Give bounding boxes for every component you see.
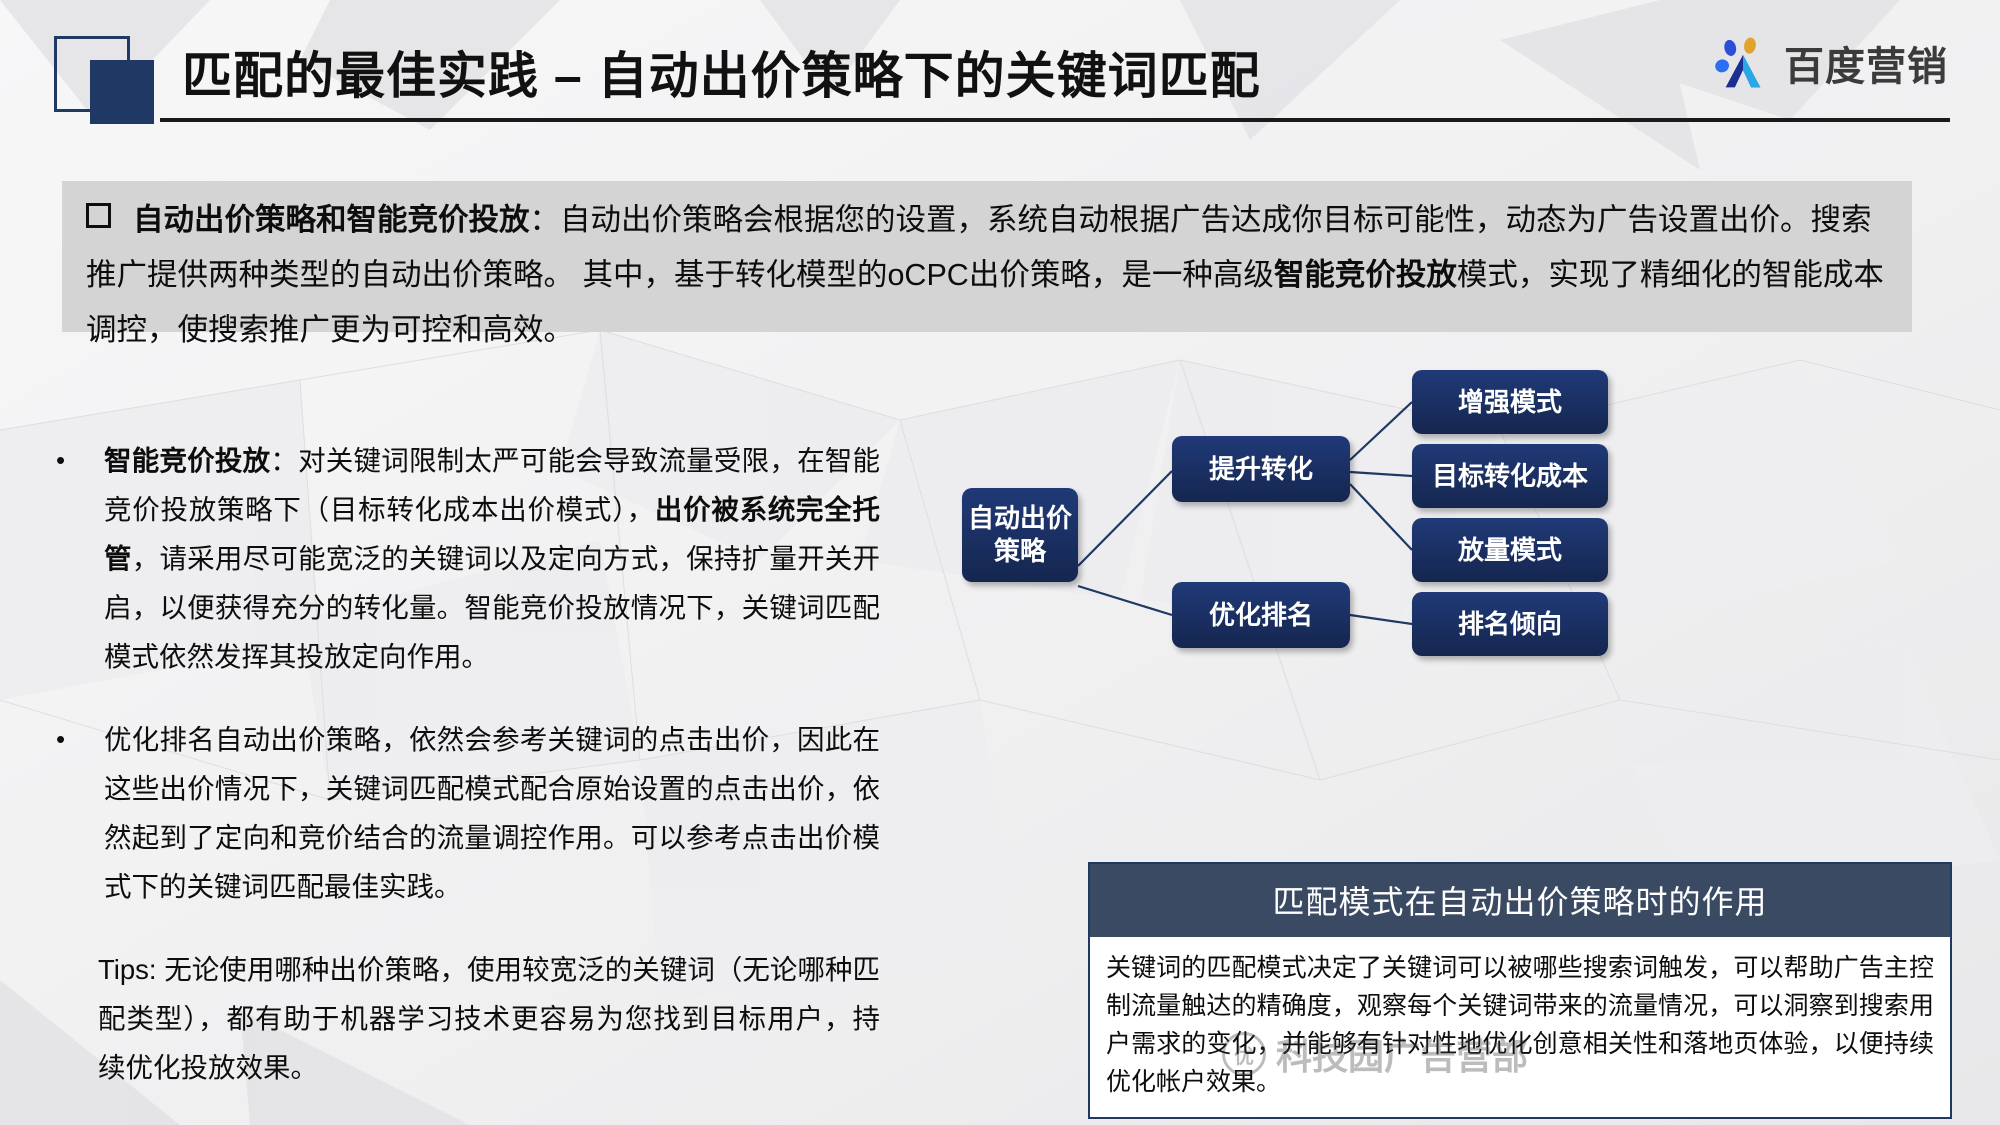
bullet-marker: • — [50, 436, 104, 485]
strategy-diagram: 自动出价 策略 提升转化 优化排名 增强模式 目标转化成本 放量模式 排名倾向 — [940, 440, 1960, 690]
baidu-marketing-logo: 百度营销 — [1714, 34, 1948, 92]
diagram-leaf-rank-preference: 排名倾向 — [1412, 592, 1608, 656]
title-underline — [160, 118, 1950, 122]
panel-body-text: 关键词的匹配模式决定了关键词可以被哪些搜索词触发，可以帮助广告主控制流量触达的精… — [1090, 937, 1950, 1117]
body-left-column: • 智能竞价投放：对关键词限制太严可能会导致流量受限，在智能竞价投放策略下（目标… — [50, 436, 880, 1092]
diagram-leaf-target-cpa: 目标转化成本 — [1412, 444, 1608, 508]
diagram-node-root-label: 自动出价 策略 — [968, 502, 1072, 568]
bullet-item-1: • 智能竞价投放：对关键词限制太严可能会导致流量受限，在智能竞价投放策略下（目标… — [50, 436, 880, 681]
panel-heading: 匹配模式在自动出价策略时的作用 — [1090, 864, 1950, 937]
diagram-node-root: 自动出价 策略 — [962, 488, 1078, 582]
diagram-node-optimize-rank: 优化排名 — [1172, 582, 1350, 648]
diagram-node-boost-conversion: 提升转化 — [1172, 436, 1350, 502]
bullet-1-bold-1: 智能竞价投放 — [104, 445, 270, 476]
slide-root: 匹配的最佳实践 – 自动出价策略下的关键词匹配 百度营销 自动出价策略和智能竞价… — [0, 0, 2000, 1125]
baidu-brand-label: 百度营销 — [1784, 34, 1948, 92]
logo-square-outline-icon — [54, 36, 130, 112]
square-bullet-icon — [86, 203, 111, 228]
callout-lead-bold: 自动出价策略和智能竞价投放 — [133, 203, 530, 237]
tips-label: Tips: — [98, 954, 157, 985]
callout-mid-bold: 智能竞价投放 — [1274, 258, 1457, 292]
bullet-text-1: 智能竞价投放：对关键词限制太严可能会导致流量受限，在智能竞价投放策略下（目标转化… — [104, 436, 880, 681]
callout-colon: ： — [530, 203, 561, 237]
bullet-marker: • — [50, 715, 104, 764]
bullet-text-2: 优化排名自动出价策略，依然会参考关键词的点击出价，因此在这些出价情况下，关键词匹… — [104, 715, 880, 911]
baidu-bear-paw-icon — [1714, 34, 1772, 92]
match-mode-panel: 匹配模式在自动出价策略时的作用 关键词的匹配模式决定了关键词可以被哪些搜索词触发… — [1088, 862, 1952, 1119]
diagram-leaf-enhanced-mode: 增强模式 — [1412, 370, 1608, 434]
root-line-2: 策略 — [994, 536, 1046, 566]
tips-paragraph: Tips: 无论使用哪种出价策略，使用较宽泛的关键词（无论哪种匹配类型），都有助… — [98, 945, 880, 1092]
page-title: 匹配的最佳实践 – 自动出价策略下的关键词匹配 — [182, 36, 1261, 108]
diagram-leaf-volume-mode: 放量模式 — [1412, 518, 1608, 582]
root-line-1: 自动出价 — [968, 503, 1072, 533]
tips-text: 无论使用哪种出价策略，使用较宽泛的关键词（无论哪种匹配类型），都有助于机器学习技… — [98, 954, 880, 1083]
bullet-2-plain-1: 优化排名自动出价策略，依然会参考关键词的点击出价，因此在这些出价情况下，关键词匹… — [104, 724, 880, 902]
callout-text: 自动出价策略和智能竞价投放：自动出价策略会根据您的设置，系统自动根据广告达成你目… — [86, 193, 1896, 358]
bullet-1-plain-2: ，请采用尽可能宽泛的关键词以及定向方式，保持扩量开关开启，以便获得充分的转化量。… — [104, 543, 880, 672]
bullet-item-2: • 优化排名自动出价策略，依然会参考关键词的点击出价，因此在这些出价情况下，关键… — [50, 715, 880, 911]
